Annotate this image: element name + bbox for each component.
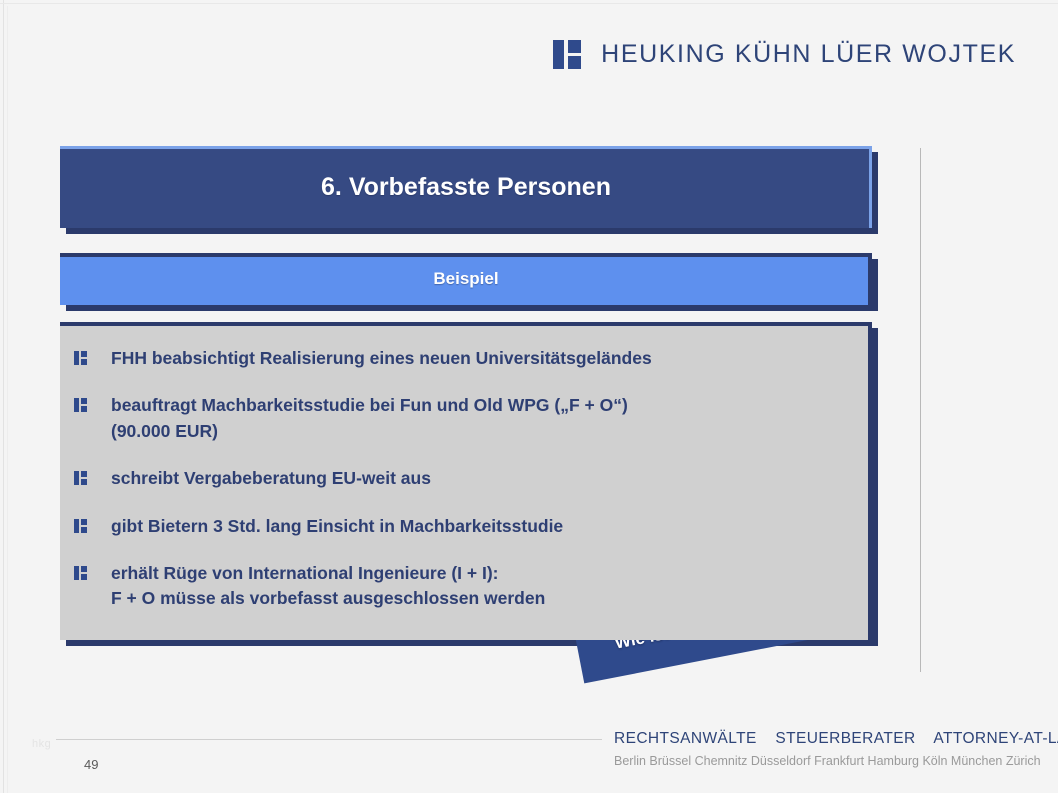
bullet-text: gibt Bietern 3 Std. lang Einsicht in Mac…: [111, 514, 563, 539]
brand-name: HEUKING KÜHN LÜER WOJTEK: [601, 40, 1016, 69]
list-item: FHH beabsichtigt Realisierung eines neue…: [68, 346, 872, 371]
bullet-text: erhält Rüge von International Ingenieure…: [111, 561, 545, 612]
heuking-logo-icon: [553, 40, 581, 69]
bullet-bar-left: [74, 471, 79, 485]
bullet-text: schreibt Vergabeberatung EU-weit aus: [111, 466, 431, 491]
bullet-bar-left: [74, 566, 79, 580]
logo-square-top-right: [568, 40, 581, 53]
footer-divider: [56, 739, 602, 740]
list-item: beauftragt Machbarkeitsstudie bei Fun un…: [68, 393, 872, 444]
footer-cities: Berlin Brüssel Chemnitz Düsseldorf Frank…: [614, 754, 1034, 768]
bullet-square-top: [81, 566, 87, 572]
bullet-text: beauftragt Machbarkeitsstudie bei Fun un…: [111, 393, 628, 444]
vertical-divider: [920, 148, 921, 672]
logo-bar-left: [553, 40, 564, 69]
bullet-marker-icon: [74, 519, 87, 533]
bullet-square-bottom: [81, 479, 87, 485]
footer-practice-2: STEUERBERATER: [775, 730, 915, 747]
footer-practice-3: ATTORNEY-AT-LAW: [933, 730, 1058, 747]
footer-practice-areas: RECHTSANWÄLTE STEUERBERATER ATTORNEY-AT-…: [614, 730, 1034, 748]
bullet-square-top: [81, 519, 87, 525]
footer-watermark: hkg: [32, 738, 51, 750]
brand-header: HEUKING KÜHN LÜER WOJTEK: [553, 40, 1016, 69]
page-number: 49: [84, 757, 98, 772]
list-item: erhält Rüge von International Ingenieure…: [68, 561, 872, 612]
page-title: 6. Vorbefasste Personen: [321, 173, 611, 202]
bullet-marker-icon: [74, 398, 87, 412]
bullet-marker-icon: [74, 471, 87, 485]
list-item: gibt Bietern 3 Std. lang Einsicht in Mac…: [68, 514, 872, 539]
slide-title-bar: 6. Vorbefasste Personen: [60, 146, 872, 228]
list-item: schreibt Vergabeberatung EU-weit aus: [68, 466, 872, 491]
bullet-square-bottom: [81, 527, 87, 533]
bullet-marker-icon: [74, 566, 87, 580]
bullet-list: FHH beabsichtigt Realisierung eines neue…: [60, 322, 872, 612]
bullet-marker-icon: [74, 351, 87, 365]
bullet-square-top: [81, 471, 87, 477]
footer-brand-block: RECHTSANWÄLTE STEUERBERATER ATTORNEY-AT-…: [614, 730, 1034, 768]
content-panel: FHH beabsichtigt Realisierung eines neue…: [60, 322, 872, 640]
bullet-square-top: [81, 351, 87, 357]
bullet-text: FHH beabsichtigt Realisierung eines neue…: [111, 346, 652, 371]
bullet-bar-left: [74, 519, 79, 533]
bullet-bar-left: [74, 351, 79, 365]
page-border-left-inner: [7, 6, 8, 793]
bullet-square-bottom: [81, 574, 87, 580]
bullet-square-bottom: [81, 406, 87, 412]
footer-practice-1: RECHTSANWÄLTE: [614, 730, 757, 747]
logo-square-bottom-right: [568, 56, 581, 69]
page-border-left: [3, 0, 4, 793]
bullet-square-top: [81, 398, 87, 404]
subtitle-label: Beispiel: [433, 269, 498, 289]
slide-subtitle-bar: Beispiel: [60, 253, 872, 305]
bullet-bar-left: [74, 398, 79, 412]
bullet-square-bottom: [81, 359, 87, 365]
page-border-top: [0, 3, 1058, 4]
